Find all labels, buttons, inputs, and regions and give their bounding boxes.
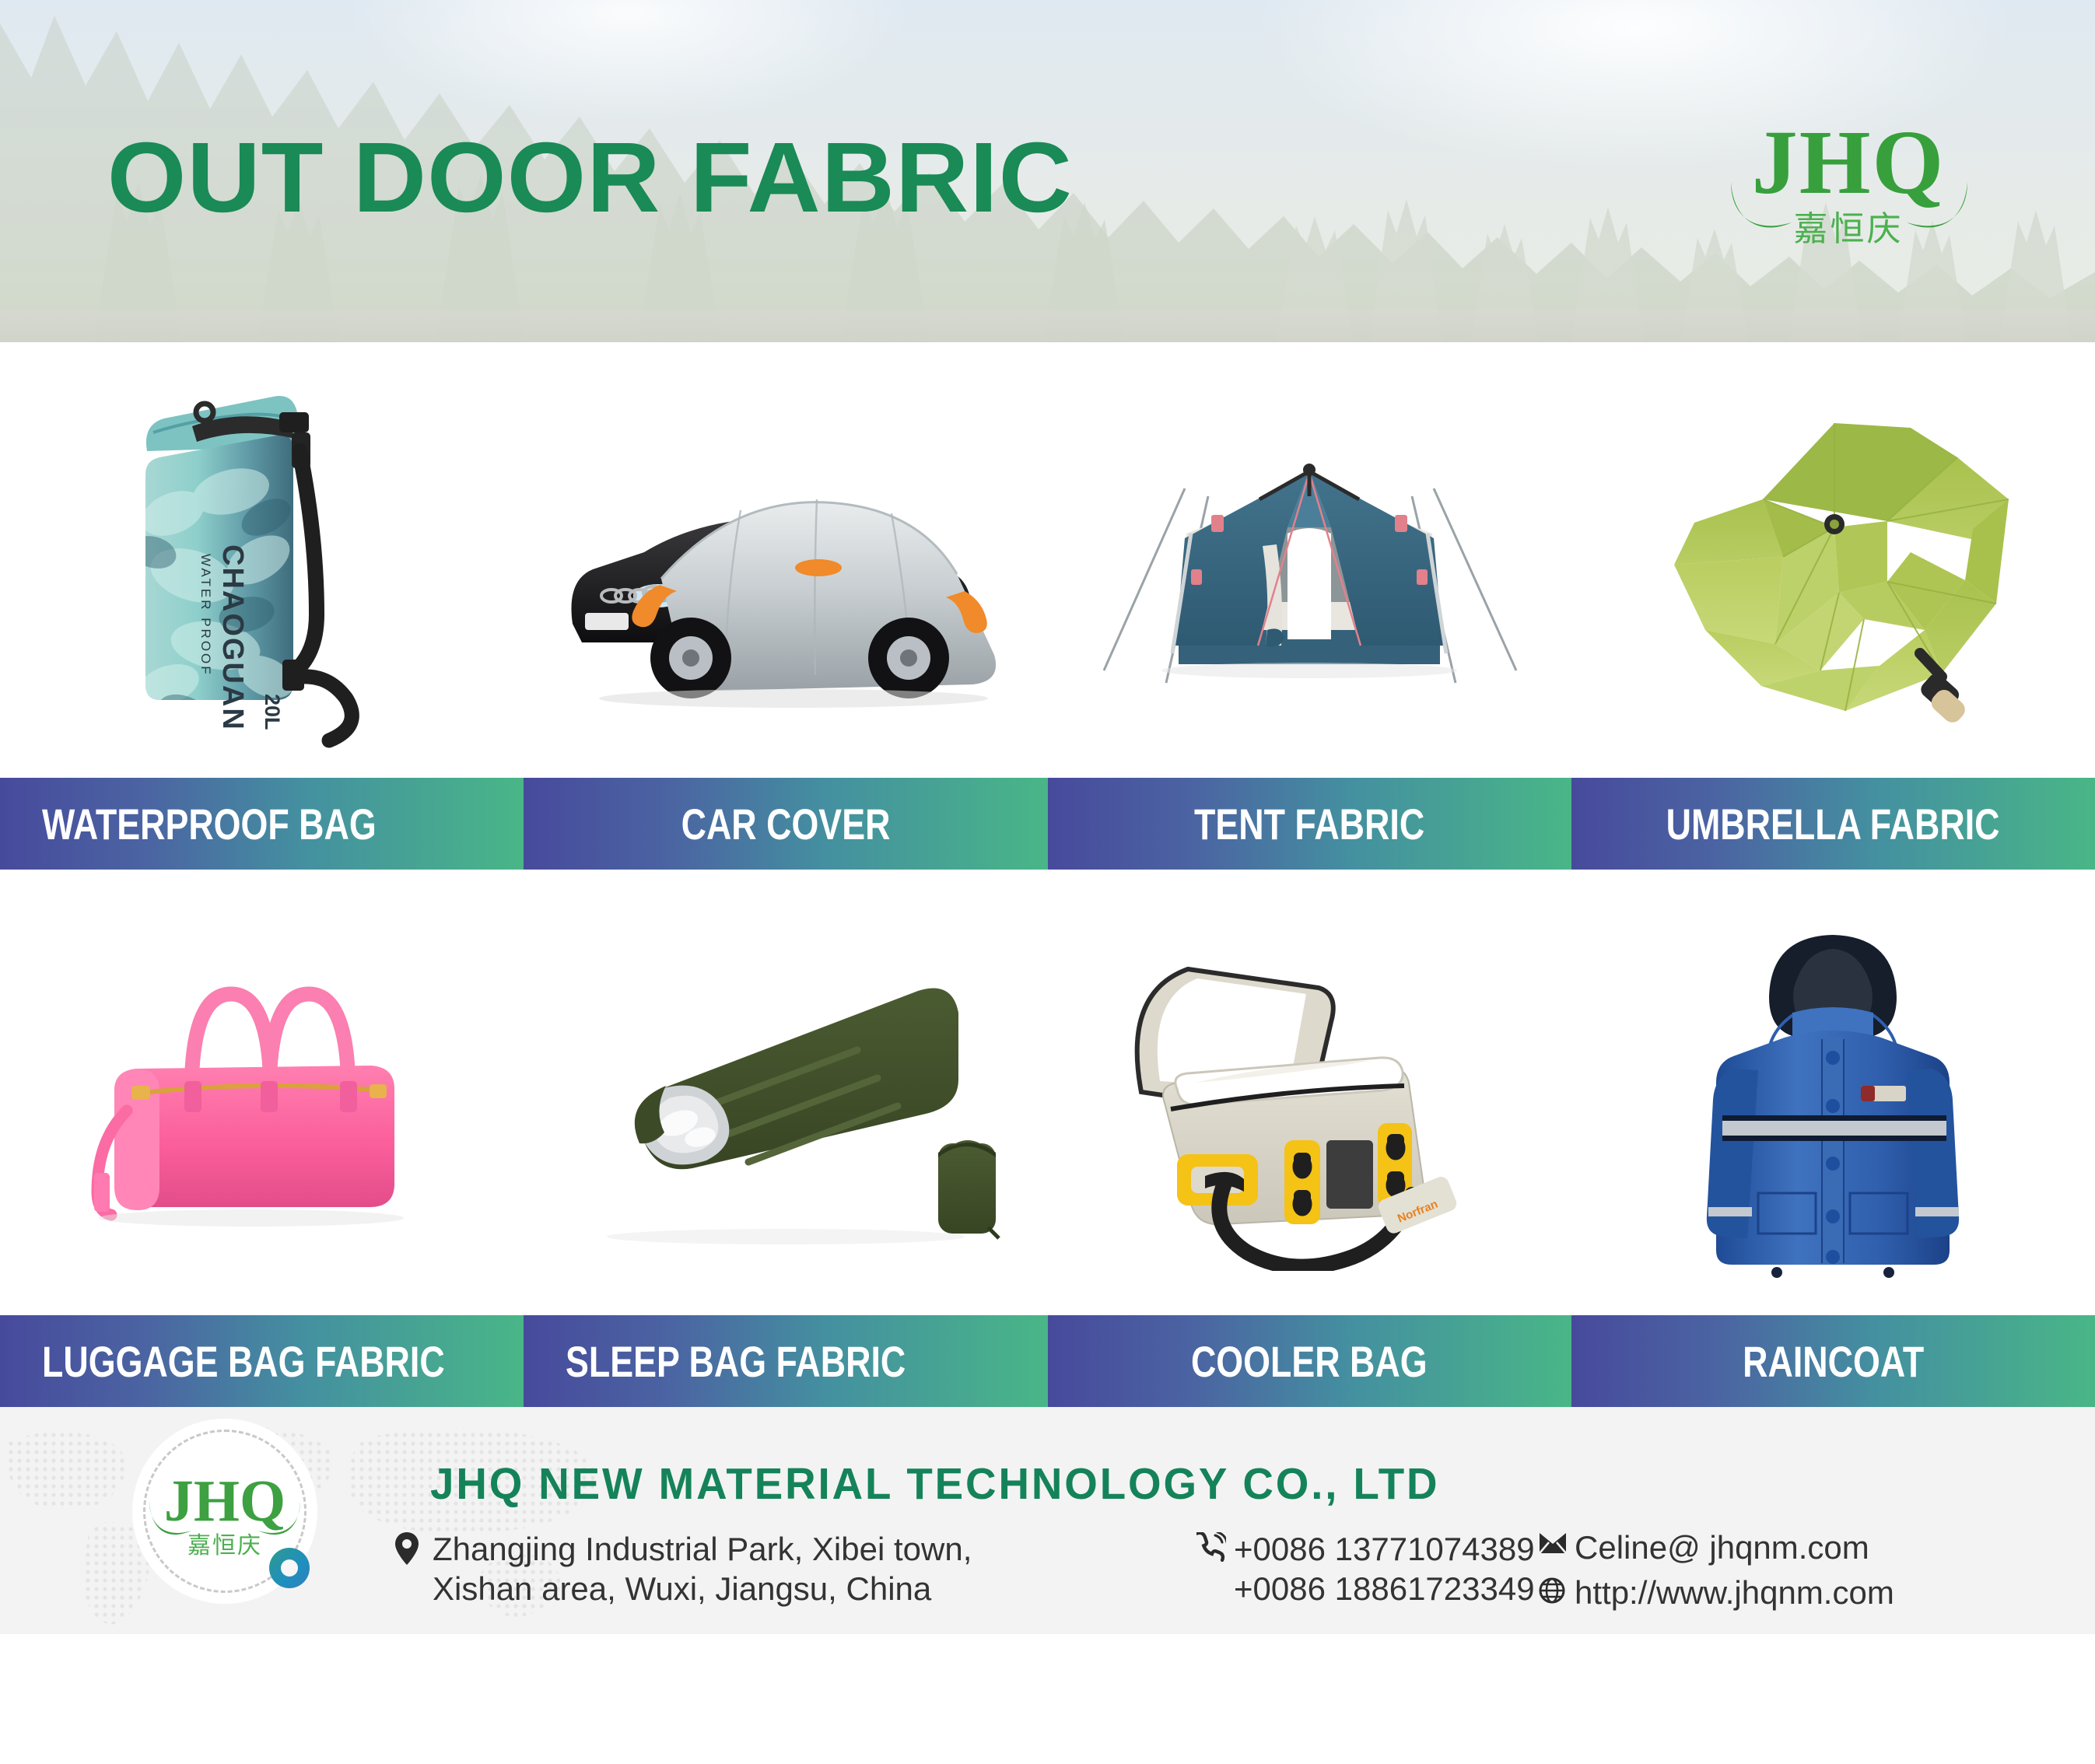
phone-icon [1196, 1529, 1234, 1567]
email-block[interactable]: Celine@ jhqnm.com [1539, 1528, 1869, 1567]
product-photo-car-cover [524, 342, 1047, 778]
logo-chinese-name: 嘉恒庆 [1720, 201, 1977, 250]
blue-raincoat-image [1677, 921, 1988, 1279]
bag-sub-text: WATER PROOF [198, 554, 213, 677]
page-title: OUT DOOR FABRIC [107, 121, 1073, 235]
label-text: SLEEP BAG FABRIC [566, 1336, 906, 1387]
phone-number-1: +0086 13771074389 [1234, 1531, 1535, 1567]
bag-capacity-text: 20L [261, 694, 284, 730]
logo-mark: JHQ [1720, 117, 1977, 208]
header-banner: OUT DOOR FABRIC JHQ 嘉恒庆 [0, 0, 2095, 342]
folding-umbrella-image [1631, 397, 2035, 723]
address-block: Zhangjing Industrial Park, Xibei town, X… [395, 1529, 972, 1608]
product-photo-raincoat [1571, 884, 2095, 1315]
envelope-icon [1539, 1528, 1575, 1558]
product-photo-luggage-bag [0, 884, 524, 1315]
product-photo-sleep-bag [524, 884, 1047, 1315]
product-label-car-cover: CAR COVER [524, 778, 1047, 870]
address-line-2: Xishan area, Wuxi, Jiangsu, China [433, 1569, 972, 1608]
footer: JHQ 嘉恒庆 JHQ NEW MATERIAL TECHNOLOGY CO.,… [0, 1407, 2095, 1634]
phone-text: +0086 13771074389 +0086 18861723349 [1234, 1529, 1535, 1608]
company-name: JHQ NEW MATERIAL TECHNOLOGY CO., LTD [430, 1458, 1439, 1510]
brand-logo: JHQ 嘉恒庆 [1720, 117, 1977, 264]
globe-icon [1539, 1573, 1575, 1608]
location-pin-icon [395, 1529, 433, 1569]
label-text: TENT FABRIC [1194, 799, 1424, 849]
product-card-raincoat[interactable]: RAINCOAT [1571, 884, 2095, 1407]
product-label-umbrella-fabric: UMBRELLA FABRIC [1571, 778, 2095, 870]
product-card-cooler-bag[interactable]: Norfran COOLER BAG [1048, 884, 1571, 1407]
product-label-tent-fabric: TENT FABRIC [1048, 778, 1571, 870]
website-block[interactable]: http://www.jhqnm.com [1539, 1573, 1894, 1612]
product-card-umbrella-fabric[interactable]: UMBRELLA FABRIC [1571, 342, 2095, 870]
product-photo-cooler-bag: Norfran [1048, 884, 1571, 1315]
label-text: CAR COVER [681, 799, 890, 849]
car-cover-image [545, 412, 1027, 708]
rock-strip [0, 310, 2095, 342]
cooler-bag-image: Norfran [1099, 929, 1519, 1271]
pink-duffel-bag-image [60, 944, 464, 1255]
product-row-2: LUGGAGE BAG FABRIC [0, 884, 2095, 1407]
poster: OUT DOOR FABRIC JHQ 嘉恒庆 [0, 0, 2095, 1764]
label-text: LUGGAGE BAG FABRIC [42, 1336, 445, 1387]
address-line-1: Zhangjing Industrial Park, Xibei town, [433, 1531, 972, 1567]
row-separator [0, 870, 2095, 884]
product-photo-waterproof-bag: CHAOGUAN WATER PROOF 20L [0, 342, 524, 778]
product-card-tent-fabric[interactable]: TENT FABRIC [1048, 342, 1571, 870]
product-card-luggage-bag-fabric[interactable]: LUGGAGE BAG FABRIC [0, 884, 524, 1407]
label-text: RAINCOAT [1743, 1336, 1924, 1387]
contact-info: Zhangjing Industrial Park, Xibei town, X… [395, 1528, 2076, 1621]
badge-accent-ring [269, 1548, 310, 1588]
badge-logo-mark: JHQ [132, 1472, 317, 1531]
bag-brand-text: CHAOGUAN [216, 544, 249, 731]
product-card-sleep-bag-fabric[interactable]: SLEEP BAG FABRIC [524, 884, 1047, 1407]
product-label-raincoat: RAINCOAT [1571, 1315, 2095, 1407]
phone-number-2: +0086 18861723349 [1234, 1569, 1535, 1608]
product-card-waterproof-bag[interactable]: CHAOGUAN WATER PROOF 20L WATERPRO [0, 342, 524, 870]
address-text: Zhangjing Industrial Park, Xibei town, X… [433, 1529, 972, 1608]
product-photo-tent [1048, 342, 1571, 778]
website-text: http://www.jhqnm.com [1575, 1573, 1894, 1612]
product-label-luggage-bag-fabric: LUGGAGE BAG FABRIC [0, 1315, 524, 1407]
email-text: Celine@ jhqnm.com [1575, 1528, 1869, 1567]
product-label-cooler-bag: COOLER BAG [1048, 1315, 1571, 1407]
sleeping-bag-image [552, 944, 1019, 1255]
waterproof-dry-bag-image: CHAOGUAN WATER PROOF 20L [99, 358, 426, 762]
product-label-sleep-bag-fabric: SLEEP BAG FABRIC [524, 1315, 1047, 1407]
product-row-1: CHAOGUAN WATER PROOF 20L WATERPRO [0, 342, 2095, 870]
label-text: COOLER BAG [1191, 1336, 1428, 1387]
product-card-car-cover[interactable]: CAR COVER [524, 342, 1047, 870]
camping-tent-image [1091, 397, 1527, 723]
label-text: WATERPROOF BAG [42, 799, 377, 849]
product-label-waterproof-bag: WATERPROOF BAG [0, 778, 524, 870]
label-text: UMBRELLA FABRIC [1666, 799, 2000, 849]
product-grid: CHAOGUAN WATER PROOF 20L WATERPRO [0, 342, 2095, 1407]
footer-logo-badge: JHQ 嘉恒庆 [115, 1408, 327, 1619]
phone-block[interactable]: +0086 13771074389 +0086 18861723349 [1196, 1529, 1535, 1608]
product-photo-umbrella [1571, 342, 2095, 778]
